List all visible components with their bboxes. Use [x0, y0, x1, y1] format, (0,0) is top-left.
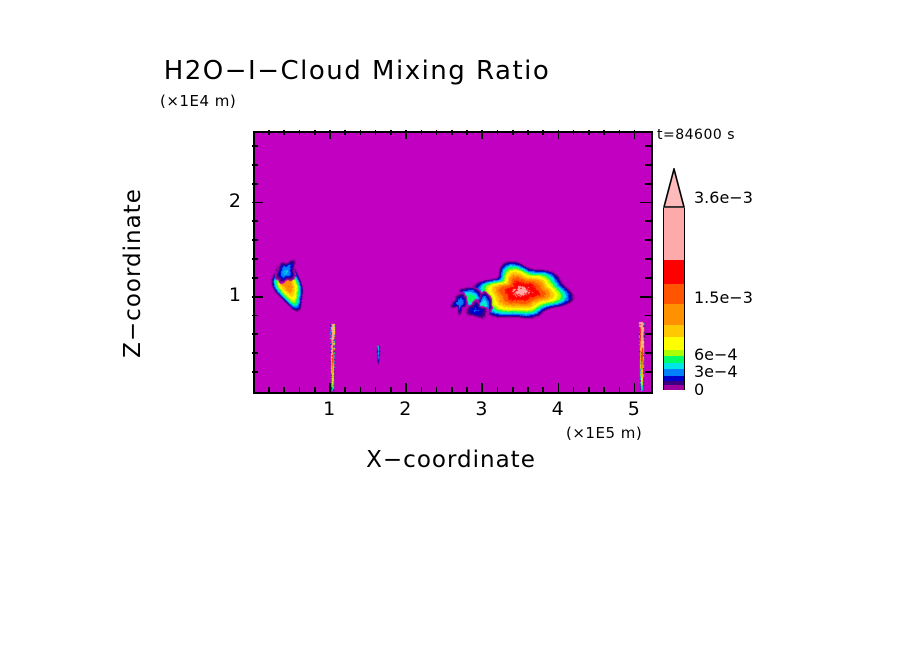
x-minor-tick-top [466, 130, 468, 135]
colorbar-tick-label: 0 [694, 380, 704, 399]
y-major-tick-right [640, 296, 651, 298]
x-minor-tick [421, 387, 423, 392]
x-axis-units-label: (×1E5 m) [566, 424, 642, 442]
x-minor-tick-top [299, 130, 301, 135]
x-minor-tick [283, 387, 285, 392]
x-major-tick [481, 383, 483, 392]
x-minor-tick-top [588, 130, 590, 135]
x-major-tick [405, 383, 407, 392]
x-major-tick-top [481, 130, 483, 139]
y-tick-label: 2 [211, 190, 241, 212]
x-minor-tick [588, 387, 590, 392]
colorbar-band [663, 356, 685, 363]
x-tick-label: 4 [543, 398, 573, 420]
x-minor-tick-top [573, 130, 575, 135]
x-major-tick-top [634, 130, 636, 139]
x-major-tick [558, 383, 560, 392]
y-axis-units-label: (×1E4 m) [160, 92, 236, 110]
x-tick-label: 3 [466, 398, 496, 420]
x-major-tick-top [405, 130, 407, 139]
x-minor-tick [512, 387, 514, 392]
x-minor-tick [466, 387, 468, 392]
y-axis-label: Z−coordinate [120, 123, 146, 423]
timestamp-annotation: t=84600 s [657, 127, 735, 143]
x-minor-tick [344, 387, 346, 392]
x-minor-tick [542, 387, 544, 392]
x-minor-tick-top [527, 130, 529, 135]
y-major-tick [252, 202, 263, 204]
y-major-tick-right [640, 202, 651, 204]
x-minor-tick-top [375, 130, 377, 135]
y-minor-tick-right [645, 220, 651, 222]
y-minor-tick [252, 145, 258, 147]
x-minor-tick [299, 387, 301, 392]
y-minor-tick [252, 315, 258, 317]
colorbar-band [663, 350, 685, 357]
figure-canvas: H2O−I−Cloud Mixing Ratio (×1E4 m) t=8460… [0, 0, 904, 654]
x-tick-label: 2 [390, 398, 420, 420]
y-minor-tick [252, 371, 258, 373]
x-minor-tick [573, 387, 575, 392]
x-minor-tick-top [344, 130, 346, 135]
colorbar-band [663, 284, 685, 304]
x-minor-tick-top [512, 130, 514, 135]
x-minor-tick [314, 387, 316, 392]
colorbar-tick-label: 3e−4 [694, 362, 738, 381]
y-minor-tick-right [645, 333, 651, 335]
y-minor-tick-right [645, 352, 651, 354]
plot-area [253, 131, 653, 394]
x-minor-tick-top [421, 130, 423, 135]
x-major-tick-top [329, 130, 331, 139]
x-minor-tick-top [268, 130, 270, 135]
colorbar-band [663, 304, 685, 325]
y-minor-tick-right [645, 277, 651, 279]
y-minor-tick-right [645, 145, 651, 147]
x-minor-tick-top [360, 130, 362, 135]
y-minor-tick [252, 239, 258, 241]
x-minor-tick [436, 387, 438, 392]
x-minor-tick-top [619, 130, 621, 135]
x-minor-tick [268, 387, 270, 392]
x-minor-tick [360, 387, 362, 392]
colorbar-band [663, 208, 685, 260]
y-minor-tick [252, 352, 258, 354]
y-tick-label: 1 [211, 284, 241, 306]
x-minor-tick-top [451, 130, 453, 135]
x-minor-tick [451, 387, 453, 392]
colorbar-tick-label: 3.6e−3 [694, 188, 753, 207]
x-minor-tick [527, 387, 529, 392]
contour-field [255, 133, 651, 392]
colorbar-band [663, 385, 685, 390]
colorbar-band [663, 325, 685, 337]
x-minor-tick-top [436, 130, 438, 135]
colorbar-band [663, 337, 685, 349]
y-major-tick [252, 296, 263, 298]
x-minor-tick-top [603, 130, 605, 135]
y-minor-tick-right [645, 315, 651, 317]
x-major-tick [329, 383, 331, 392]
x-minor-tick [497, 387, 499, 392]
y-minor-tick-right [645, 164, 651, 166]
y-minor-tick [252, 258, 258, 260]
x-tick-label: 5 [619, 398, 649, 420]
x-minor-tick-top [542, 130, 544, 135]
x-minor-tick-top [283, 130, 285, 135]
colorbar [663, 208, 685, 390]
x-major-tick-top [558, 130, 560, 139]
x-minor-tick-top [314, 130, 316, 135]
y-minor-tick [252, 164, 258, 166]
y-minor-tick [252, 333, 258, 335]
y-minor-tick-right [645, 258, 651, 260]
colorbar-extend-arrow [663, 168, 685, 208]
y-minor-tick-right [645, 239, 651, 241]
x-minor-tick [619, 387, 621, 392]
colorbar-tick-label: 1.5e−3 [694, 288, 753, 307]
plot-title: H2O−I−Cloud Mixing Ratio [0, 56, 904, 86]
x-minor-tick-top [390, 130, 392, 135]
x-tick-label: 1 [314, 398, 344, 420]
y-minor-tick-right [645, 371, 651, 373]
x-minor-tick [375, 387, 377, 392]
x-minor-tick-top [497, 130, 499, 135]
y-minor-tick-right [645, 183, 651, 185]
x-minor-tick [390, 387, 392, 392]
x-axis-label: X−coordinate [253, 447, 649, 473]
x-major-tick [634, 383, 636, 392]
y-minor-tick [252, 183, 258, 185]
colorbar-band [663, 260, 685, 284]
x-minor-tick [603, 387, 605, 392]
y-minor-tick [252, 277, 258, 279]
y-minor-tick [252, 220, 258, 222]
